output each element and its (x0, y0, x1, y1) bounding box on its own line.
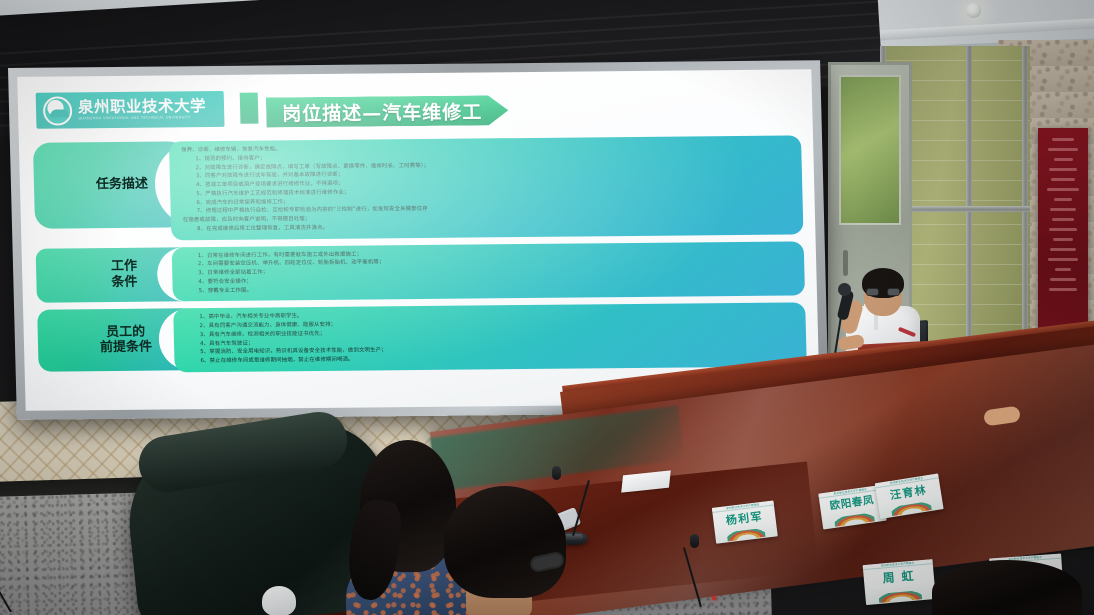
slide-row: 任务描述 保养、诊断、维修车辆，恢复汽车性能。 1、规范的预约、接待客户； 2、… (33, 135, 804, 241)
university-seal-icon (43, 96, 73, 125)
projection-screen-frame: 泉州职业技术大学 QUANZHOU VOCATIONAL AND TECHNIC… (8, 60, 829, 420)
microphone-led-icon (712, 596, 716, 600)
university-name-cn: 泉州职业技术大学 (78, 99, 206, 116)
nameplate: 泉州职业技术大学产教融合 杨利军 (712, 500, 778, 543)
row-content-card: 1、日常在维修车间进行工作，有时需要就车施工或外出救援施工； 2、车间需要安装空… (172, 241, 805, 302)
row-content-card: 1、高中毕业、汽车相关专业中高职学生。 2、具有同客户沟通交流能力、身体健康、能… (173, 303, 807, 373)
audience-hair (444, 486, 566, 598)
title-accent-bar (240, 93, 259, 124)
row-label-text: 任务描述 (96, 177, 148, 193)
slide-title: 岗位描述—汽车维修工 (282, 97, 483, 126)
audience-hair (932, 560, 1082, 615)
slide-body: 任务描述 保养、诊断、维修车辆，恢复汽车性能。 1、规范的预约、接待客户； 2、… (33, 135, 807, 394)
presentation-slide: 泉州职业技术大学 QUANZHOU VOCATIONAL AND TECHNIC… (17, 69, 820, 411)
rainbow-icon (879, 590, 923, 603)
row-content-list: 保养、诊断、维修车辆，恢复汽车性能。 1、规范的预约、接待客户； 2、对故障车进… (181, 140, 793, 233)
ceiling-light-icon (966, 3, 981, 18)
microphone-head-icon (838, 283, 851, 296)
nameplate: 泉州职业技术大学产教融合 周 虹 (863, 559, 936, 605)
slide-row: 员工的 前提条件 1、高中毕业、汽车相关专业中高职学生。 2、具有同客户沟通交流… (37, 303, 807, 374)
audience-member (932, 560, 1082, 615)
door-handle[interactable] (843, 250, 848, 276)
screenshot-root: 泉州职业技术大学 QUANZHOU VOCATIONAL AND TECHNIC… (0, 0, 1094, 615)
slide-row: 工作 条件 1、日常在维修车间进行工作，有时需要就车施工或外出救援施工； 2、车… (36, 241, 805, 303)
slide-title-banner: 岗位描述—汽车维修工 (266, 95, 509, 127)
university-logo: 泉州职业技术大学 QUANZHOU VOCATIONAL AND TECHNIC… (36, 91, 225, 129)
audience-member (444, 486, 574, 615)
teacup[interactable] (262, 586, 296, 615)
row-label-text: 工作 条件 (111, 259, 138, 290)
glasses-icon (866, 288, 900, 296)
microphone-head-icon (690, 534, 699, 548)
row-content-card: 保养、诊断、维修车辆，恢复汽车性能。 1、规范的预约、接待客户； 2、对故障车进… (169, 135, 804, 240)
university-name-en: QUANZHOU VOCATIONAL AND TECHNICAL UNIVER… (78, 116, 206, 121)
microphone-head-icon (552, 466, 561, 480)
row-content-list: 1、高中毕业、汽车相关专业中高职学生。 2、具有同客户沟通交流能力、身体健康、能… (185, 308, 796, 366)
row-content-list: 1、日常在维修车间进行工作，有时需要就车施工或外出救援施工； 2、车间需要安装空… (184, 246, 795, 296)
row-label-text: 员工的 前提条件 (100, 325, 153, 356)
door-glass-panel (839, 75, 901, 225)
